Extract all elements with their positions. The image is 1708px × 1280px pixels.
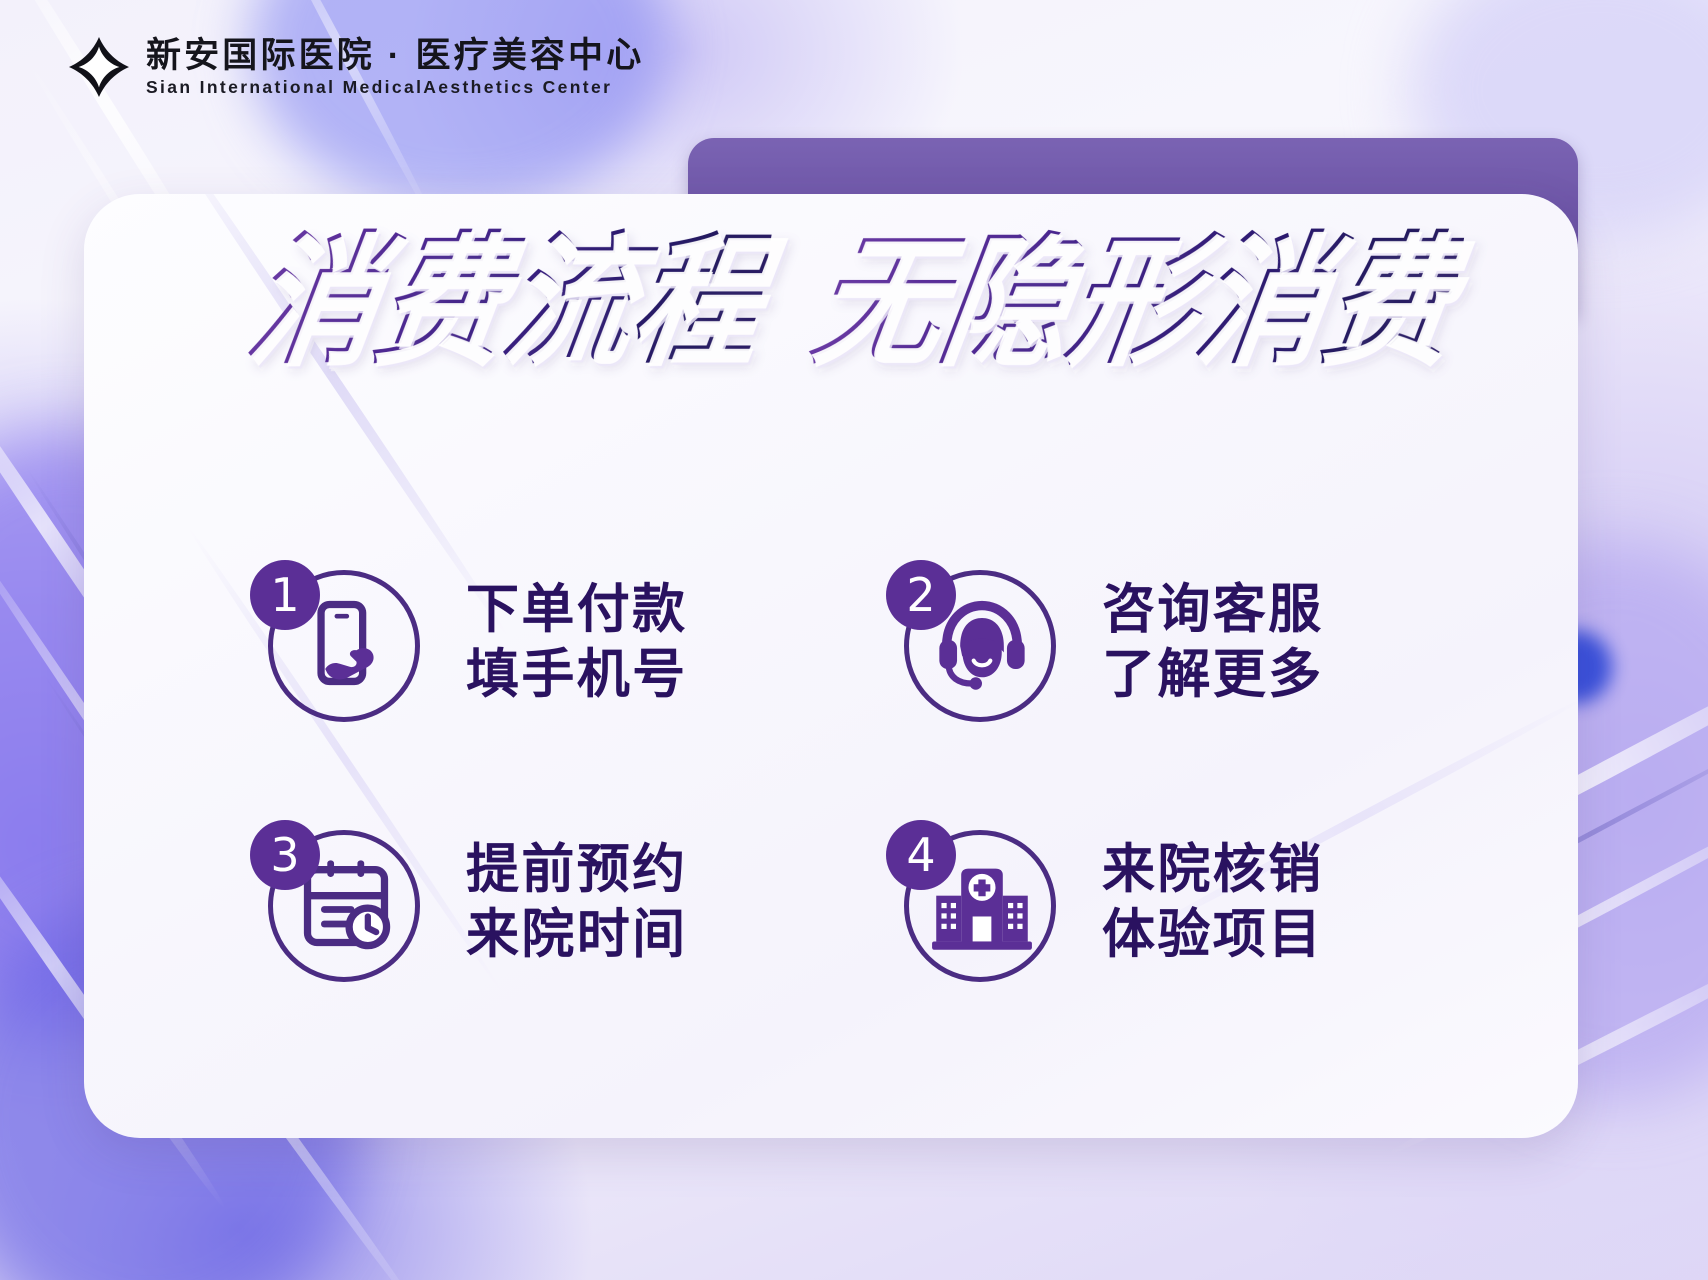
brand-name-en: Sian International MedicalAesthetics Cen… <box>146 78 644 96</box>
step-3-line-1: 提前预约 <box>466 838 688 903</box>
step-2-number-badge: 2 <box>886 560 956 630</box>
step-item-2: 2 <box>886 552 1450 734</box>
step-4-icon-group: 4 <box>886 812 1068 994</box>
brand-text: 新安国际医院 · 医疗美容中心 Sian International Medic… <box>146 38 644 96</box>
step-3-label: 提前预约 来院时间 <box>466 838 688 967</box>
step-4-line-1: 来院核销 <box>1102 838 1324 903</box>
brand-name-cn: 新安国际医院 · 医疗美容中心 <box>146 38 644 75</box>
step-item-1: 1 下单付款 填手机号 <box>250 552 814 734</box>
step-3-icon-group: 3 <box>250 812 432 994</box>
brand-header: 新安国际医院 · 医疗美容中心 Sian International Medic… <box>68 36 644 98</box>
title-part-1: 消费流程 <box>237 187 779 391</box>
step-item-3: 3 <box>250 812 814 994</box>
step-2-line-1: 咨询客服 <box>1102 578 1324 643</box>
step-1-line-1: 下单付款 <box>466 578 688 643</box>
four-point-star-logo-icon <box>68 36 130 98</box>
step-2-icon-group: 2 <box>886 552 1068 734</box>
step-4-line-2: 体验项目 <box>1102 903 1324 968</box>
step-2-label: 咨询客服 了解更多 <box>1102 578 1324 707</box>
step-3-line-2: 来院时间 <box>466 903 688 968</box>
step-4-number-badge: 4 <box>886 820 956 890</box>
steps-grid: 1 下单付款 填手机号 2 <box>250 552 1450 994</box>
step-1-icon-group: 1 <box>250 552 432 734</box>
step-3-number-badge: 3 <box>250 820 320 890</box>
step-1-number-badge: 1 <box>250 560 320 630</box>
step-1-line-2: 填手机号 <box>466 643 688 708</box>
step-4-label: 来院核销 体验项目 <box>1102 838 1324 967</box>
step-1-label: 下单付款 填手机号 <box>466 578 688 707</box>
title-part-2: 无隐形消费 <box>802 187 1472 391</box>
step-item-4: 4 <box>886 812 1450 994</box>
page-title: 消费流程 无隐形消费 <box>0 198 1708 380</box>
step-2-line-2: 了解更多 <box>1102 643 1324 708</box>
